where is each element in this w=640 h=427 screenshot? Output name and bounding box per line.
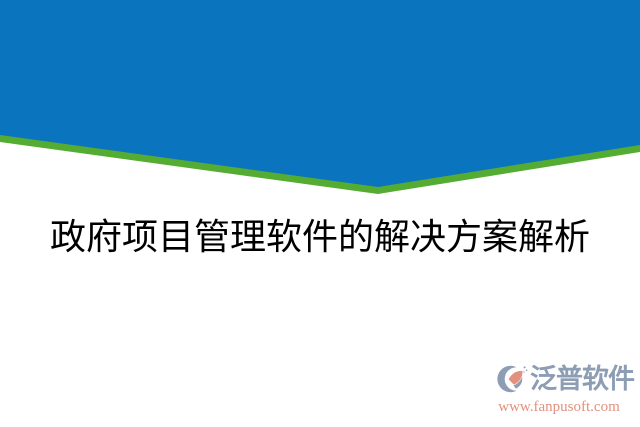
logo-wordmark: 泛普软件 (530, 364, 634, 394)
brand-logo: 泛普软件 www.fanpusoft.com (486, 361, 632, 419)
header-blue-shape (0, 0, 640, 187)
fanpusoft-logo-mark-icon (494, 363, 528, 395)
header-green-accent (0, 0, 640, 194)
title-block: 政府项目管理软件的解决方案解析 (0, 214, 640, 260)
logo-url: www.fanpusoft.com (486, 398, 632, 416)
slide-title: 政府项目管理软件的解决方案解析 (50, 214, 590, 260)
logo-row: 泛普软件 (486, 361, 632, 397)
presentation-slide: 政府项目管理软件的解决方案解析 泛普软件 www.fan (0, 0, 640, 427)
header-chevron-banner (0, 0, 640, 200)
